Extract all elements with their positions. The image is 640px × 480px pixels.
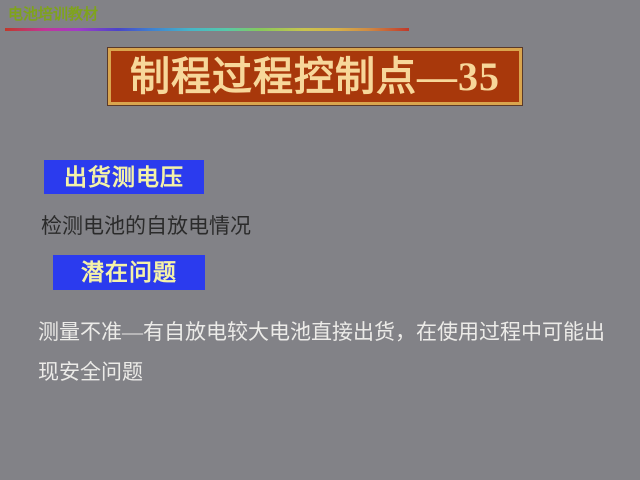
rainbow-divider-rule — [5, 28, 409, 31]
slide-canvas: 电池培训教材 制程过程控制点—35 出货测电压 检测电池的自放电情况 潜在问题 … — [0, 0, 640, 480]
page-title: 制程过程控制点—35 — [130, 57, 500, 97]
section-body-shipping-voltage: 检测电池的自放电情况 — [41, 211, 251, 241]
section-heading-label: 出货测电压 — [64, 166, 184, 189]
slide-title-box: 制程过程控制点—35 — [108, 48, 522, 105]
section-heading-label: 潜在问题 — [81, 261, 177, 284]
body-line-1: 测量不准—有自放电较大电池直接出货，在使用过程中可能出 — [38, 312, 623, 352]
section-body-potential-issue: 测量不准—有自放电较大电池直接出货，在使用过程中可能出 现安全问题 — [38, 312, 623, 392]
section-heading-chip-shipping-voltage: 出货测电压 — [44, 160, 204, 194]
section-heading-chip-potential-issue: 潜在问题 — [53, 255, 205, 290]
course-header-label: 电池培训教材 — [8, 6, 98, 24]
body-line-2: 现安全问题 — [38, 352, 623, 392]
